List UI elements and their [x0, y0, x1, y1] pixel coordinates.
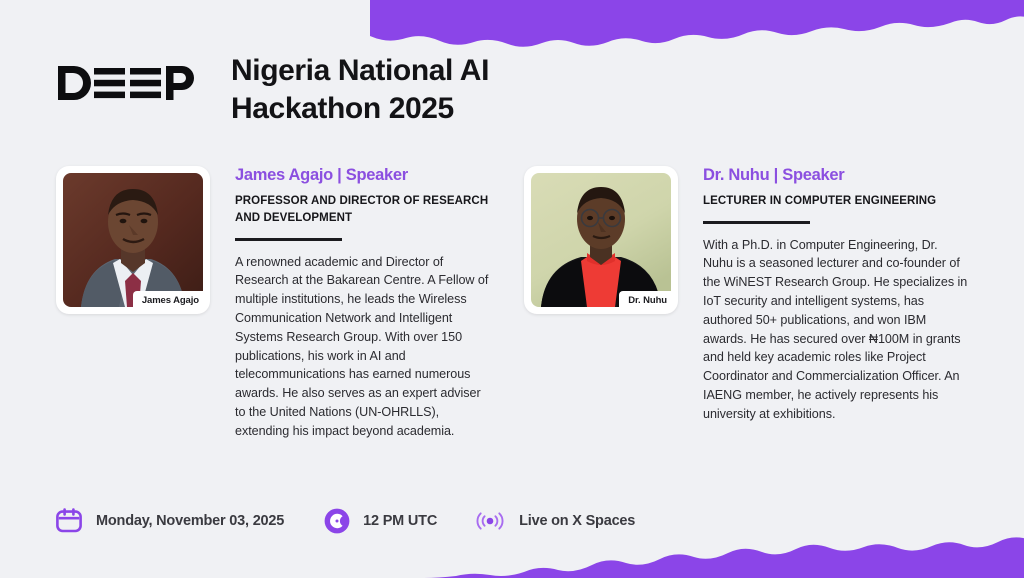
speaker-role-2: LECTURER IN COMPUTER ENGINEERING — [703, 193, 968, 210]
speaker-photo-frame-1: James Agajo — [56, 166, 210, 314]
speaker-card-1: James Agajo James Agajo | Speaker PROFES… — [56, 166, 490, 441]
event-platform-item: Live on X Spaces — [475, 510, 635, 532]
speaker-bio-2: With a Ph.D. in Computer Engineering, Dr… — [703, 236, 968, 424]
speaker-bio-1: A renowned academic and Director of Rese… — [235, 253, 490, 441]
page-title: Nigeria National AI Hackathon 2025 — [231, 52, 531, 128]
calendar-icon — [56, 508, 82, 534]
speaker-portrait-photo-1 — [63, 173, 203, 307]
speaker-name-heading-1: James Agajo | Speaker — [235, 166, 490, 185]
header: Nigeria National AI Hackathon 2025 — [56, 52, 531, 128]
speaker-card-2: Dr. Nuhu Dr. Nuhu | Speaker LECTURER IN … — [524, 166, 968, 424]
speaker-portrait-photo-2 — [531, 173, 671, 307]
speaker-name-badge-1: James Agajo — [133, 291, 207, 310]
broadcast-icon — [475, 510, 505, 532]
event-platform-label: Live on X Spaces — [519, 513, 635, 529]
event-date-item: Monday, November 03, 2025 — [56, 508, 284, 534]
top-brush-stroke-decoration — [370, 0, 1024, 52]
speaker-photo-frame-2: Dr. Nuhu — [524, 166, 678, 314]
divider-rule-1 — [235, 238, 342, 241]
event-details-footer: Monday, November 03, 2025 12 PM UTC Live… — [56, 508, 635, 534]
speaker-role-1: PROFESSOR AND DIRECTOR OF RESEARCH AND D… — [235, 193, 490, 227]
speaker-text-2: Dr. Nuhu | Speaker LECTURER IN COMPUTER … — [703, 166, 968, 424]
event-time-label: 12 PM UTC — [363, 513, 437, 529]
speaker-text-1: James Agajo | Speaker PROFESSOR AND DIRE… — [235, 166, 490, 441]
speaker-name-badge-2: Dr. Nuhu — [619, 291, 675, 310]
clock-icon — [324, 508, 350, 534]
deep-wordmark-logo — [56, 60, 198, 106]
event-time-item: 12 PM UTC — [324, 508, 437, 534]
event-date-label: Monday, November 03, 2025 — [96, 513, 284, 529]
speaker-name-heading-2: Dr. Nuhu | Speaker — [703, 166, 968, 185]
divider-rule-2 — [703, 221, 810, 224]
